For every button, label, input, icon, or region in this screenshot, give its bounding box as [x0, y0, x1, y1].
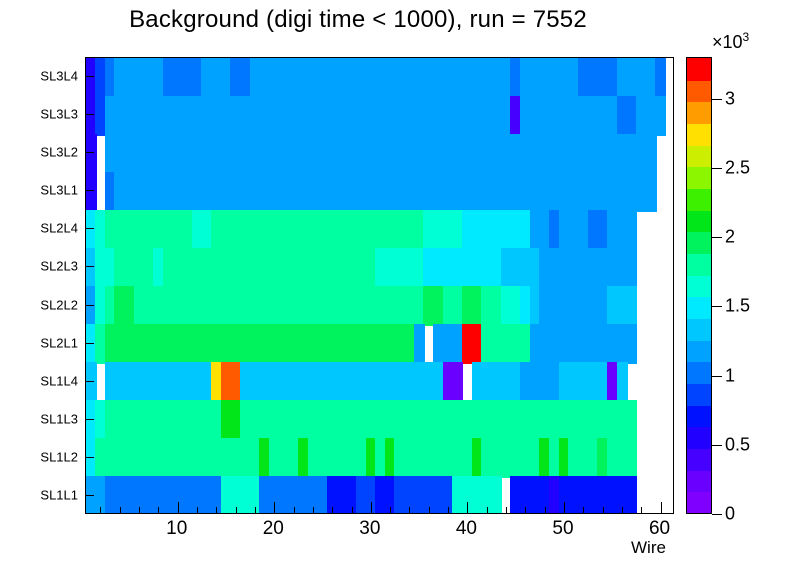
- colorbar-band: [687, 274, 711, 297]
- colorbar-band: [687, 188, 711, 211]
- y-axis-label: SL1L3: [0, 411, 78, 426]
- y-axis-label: SL3L2: [0, 145, 78, 160]
- colorbar-tick-label: 1: [725, 366, 735, 387]
- colorbar-band: [687, 58, 711, 81]
- colorbar-band: [687, 383, 711, 406]
- colorbar-tick-label: 1.5: [725, 296, 750, 317]
- colorbar-band: [687, 448, 711, 471]
- colorbar-exponent-power: 3: [743, 30, 750, 44]
- colorbar-band: [687, 491, 711, 514]
- colorbar-tick-label: 2: [725, 227, 735, 248]
- y-axis-label: SL3L1: [0, 183, 78, 198]
- y-axis-label: SL2L1: [0, 335, 78, 350]
- colorbar-tick: [712, 99, 722, 100]
- colorbar-band: [687, 79, 711, 102]
- colorbar-band: [687, 166, 711, 189]
- colorbar-tick-label: 0.5: [725, 435, 750, 456]
- x-axis-tick-label: 30: [359, 518, 380, 540]
- colorbar-band: [687, 404, 711, 427]
- colorbar-band: [687, 253, 711, 276]
- colorbar-exponent: ×103: [712, 30, 749, 53]
- y-axis-tick: [85, 305, 94, 306]
- y-axis-label: SL2L3: [0, 259, 78, 274]
- colorbar-exponent-base: ×10: [712, 32, 743, 52]
- y-axis-tick: [85, 381, 94, 382]
- y-axis-label: SL1L4: [0, 373, 78, 388]
- colorbar-band: [687, 123, 711, 146]
- colorbar-tick: [712, 376, 722, 377]
- colorbar-band: [687, 469, 711, 492]
- colorbar-tick: [712, 237, 722, 238]
- colorbar-tick-label: 2.5: [725, 158, 750, 179]
- y-axis-label: SL3L4: [0, 69, 78, 84]
- colorbar-band: [687, 101, 711, 124]
- colorbar-tick: [712, 306, 722, 307]
- colorbar-band: [687, 339, 711, 362]
- y-axis-tick: [85, 152, 94, 153]
- colorbar-band: [687, 426, 711, 449]
- root-canvas: Background (digi time < 1000), run = 755…: [0, 0, 796, 572]
- y-axis-label: SL2L2: [0, 297, 78, 312]
- x-axis-tick-label: 20: [263, 518, 284, 540]
- colorbar-tick: [712, 514, 722, 515]
- y-axis-tick: [85, 266, 94, 267]
- y-axis-label: SL3L3: [0, 107, 78, 122]
- y-axis-tick: [85, 114, 94, 115]
- x-axis-tick-label: 60: [649, 518, 670, 540]
- colorbar-band: [687, 231, 711, 254]
- y-axis-tick: [85, 190, 94, 191]
- colorbar-tick-label: 3: [725, 89, 735, 110]
- colorbar-band: [687, 209, 711, 232]
- y-axis-label: SL2L4: [0, 221, 78, 236]
- colorbar-band: [687, 318, 711, 341]
- y-axis-tick: [85, 419, 94, 420]
- y-axis-labels: SL3L4SL3L3SL3L2SL3L1SL2L4SL2L3SL2L2SL2L1…: [0, 0, 796, 572]
- colorbar-band: [687, 296, 711, 319]
- x-axis-tick-label: 10: [166, 518, 187, 540]
- colorbar-band: [687, 361, 711, 384]
- colorbar: [686, 57, 712, 514]
- colorbar-band: [687, 144, 711, 167]
- x-axis-title: Wire: [631, 538, 666, 558]
- colorbar-tick-label: 0: [725, 504, 735, 525]
- y-axis-label: SL1L1: [0, 487, 78, 502]
- y-axis-tick: [85, 76, 94, 77]
- y-axis-tick: [85, 457, 94, 458]
- x-axis-tick-label: 50: [552, 518, 573, 540]
- y-axis-tick: [85, 228, 94, 229]
- y-axis-label: SL1L2: [0, 449, 78, 464]
- colorbar-tick: [712, 445, 722, 446]
- x-axis-tick-label: 40: [456, 518, 477, 540]
- colorbar-tick: [712, 168, 722, 169]
- y-axis-tick: [85, 343, 94, 344]
- y-axis-tick: [85, 495, 94, 496]
